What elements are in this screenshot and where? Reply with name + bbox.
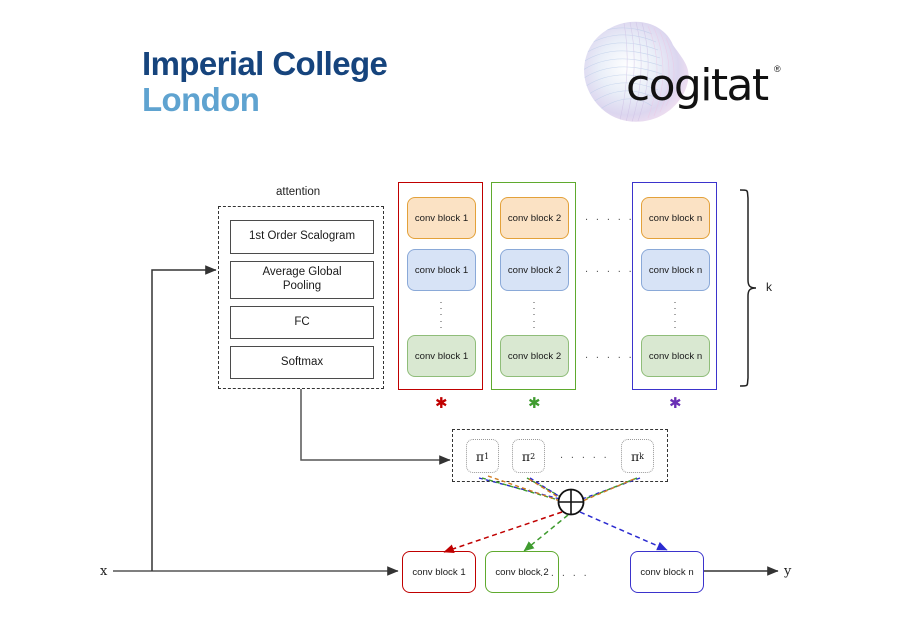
conv-cell[interactable]: conv block 1 — [407, 249, 476, 291]
attention-block-label: FC — [294, 316, 309, 330]
pi-weights-module: π1 π2 . . . . . πk — [452, 429, 668, 482]
conv-cell[interactable]: conv block n — [641, 197, 710, 239]
pi-symbol: π — [476, 449, 484, 464]
pi-subscript: 1 — [484, 452, 489, 461]
vertical-ellipsis: ..... — [669, 297, 681, 328]
conv-cell-label: conv block 2 — [508, 213, 561, 224]
conv-cell-label: conv block n — [649, 265, 702, 276]
imperial-logo-line2: London — [142, 83, 387, 116]
agp-line2: Pooling — [283, 280, 321, 292]
pi-symbol: π — [631, 449, 639, 464]
pi-box-2[interactable]: π2 — [512, 439, 545, 473]
edge-pikc-to-sum — [578, 479, 634, 503]
cogitat-wordmark: cogitat — [626, 60, 768, 111]
conv-cell-label: conv block 1 — [415, 351, 468, 362]
diagram-canvas: Imperial College London — [0, 0, 905, 640]
attention-module: 1st Order Scalogram Average Global Pooli… — [218, 206, 384, 389]
vertical-ellipsis: ..... — [435, 297, 447, 328]
k-label: k — [766, 280, 772, 294]
attention-block-label: Softmax — [281, 356, 323, 370]
attention-title: attention — [276, 186, 320, 198]
registered-trademark-icon: ® — [774, 64, 781, 74]
edge-sum-to-conv1 — [444, 512, 562, 552]
conv-cell-label: conv block 1 — [415, 213, 468, 224]
pi-subscript: 2 — [530, 452, 535, 461]
sum-node-icon — [559, 490, 584, 515]
conv-cell[interactable]: conv block 2 — [500, 335, 569, 377]
imperial-college-london-logo: Imperial College London — [142, 47, 387, 116]
conv-cell[interactable]: conv block 1 — [407, 335, 476, 377]
edge-sum-to-convn — [580, 512, 667, 550]
attention-block-softmax[interactable]: Softmax — [230, 346, 374, 379]
conv-cell[interactable]: conv block 1 — [407, 197, 476, 239]
conv-cell-label: conv block 1 — [415, 265, 468, 276]
pi-box-k[interactable]: πk — [621, 439, 654, 473]
conv-cell-label: conv block n — [649, 213, 702, 224]
input-label-x: x — [100, 564, 107, 579]
bottom-conv-block-1[interactable]: conv block 1 — [402, 551, 476, 593]
pi-subscript: k — [639, 452, 644, 461]
attention-block-average-global-pooling[interactable]: Average Global Pooling — [230, 261, 374, 299]
edge-x-to-attention — [152, 270, 216, 571]
bottom-conv-block-n[interactable]: conv block n — [630, 551, 704, 593]
conv-cell-label: conv block n — [649, 351, 702, 362]
conv-cell[interactable]: conv block 2 — [500, 249, 569, 291]
conv-column-1: conv block 1 conv block 1 ..... conv blo… — [398, 182, 483, 390]
agp-line1: Average Global — [262, 266, 341, 278]
horizontal-ellipsis: . . . . . — [585, 211, 634, 223]
attention-block-label: 1st Order Scalogram — [249, 230, 355, 244]
conv-cell[interactable]: conv block n — [641, 249, 710, 291]
conv-cell-label: conv block 2 — [508, 351, 561, 362]
horizontal-ellipsis: . . . . . — [585, 263, 634, 275]
conv-column-2: conv block 2 conv block 2 ..... conv blo… — [491, 182, 576, 390]
k-brace-icon — [737, 188, 759, 388]
pi-box-1[interactable]: π1 — [466, 439, 499, 473]
star-marker-2: ✱ — [528, 396, 541, 411]
bottom-conv-block-label: conv block 1 — [412, 567, 465, 578]
horizontal-ellipsis: . . . . . — [560, 449, 609, 461]
horizontal-ellipsis: . . . . . — [540, 567, 589, 579]
horizontal-ellipsis: . . . . . — [585, 349, 634, 361]
bottom-conv-block-label: conv block n — [640, 567, 693, 578]
edge-sum-to-conv2 — [524, 515, 568, 551]
vertical-ellipsis: ..... — [528, 297, 540, 328]
conv-cell[interactable]: conv block 2 — [500, 197, 569, 239]
imperial-logo-line1: Imperial College — [142, 47, 387, 80]
conv-cell[interactable]: conv block n — [641, 335, 710, 377]
attention-block-label: Average Global Pooling — [262, 266, 341, 293]
attention-block-fc[interactable]: FC — [230, 306, 374, 339]
conv-cell-label: conv block 2 — [508, 265, 561, 276]
cogitat-logo: cogitat ® — [578, 18, 778, 126]
edge-attention-to-pi — [301, 389, 450, 460]
edge-pi2c-to-sum — [529, 479, 566, 502]
conv-column-n: conv block n conv block n ..... conv blo… — [632, 182, 717, 390]
attention-block-scalogram[interactable]: 1st Order Scalogram — [230, 220, 374, 254]
output-label-y: y — [784, 564, 791, 579]
pi-symbol: π — [522, 449, 530, 464]
star-marker-n: ✱ — [669, 396, 682, 411]
star-marker-1: ✱ — [435, 396, 448, 411]
